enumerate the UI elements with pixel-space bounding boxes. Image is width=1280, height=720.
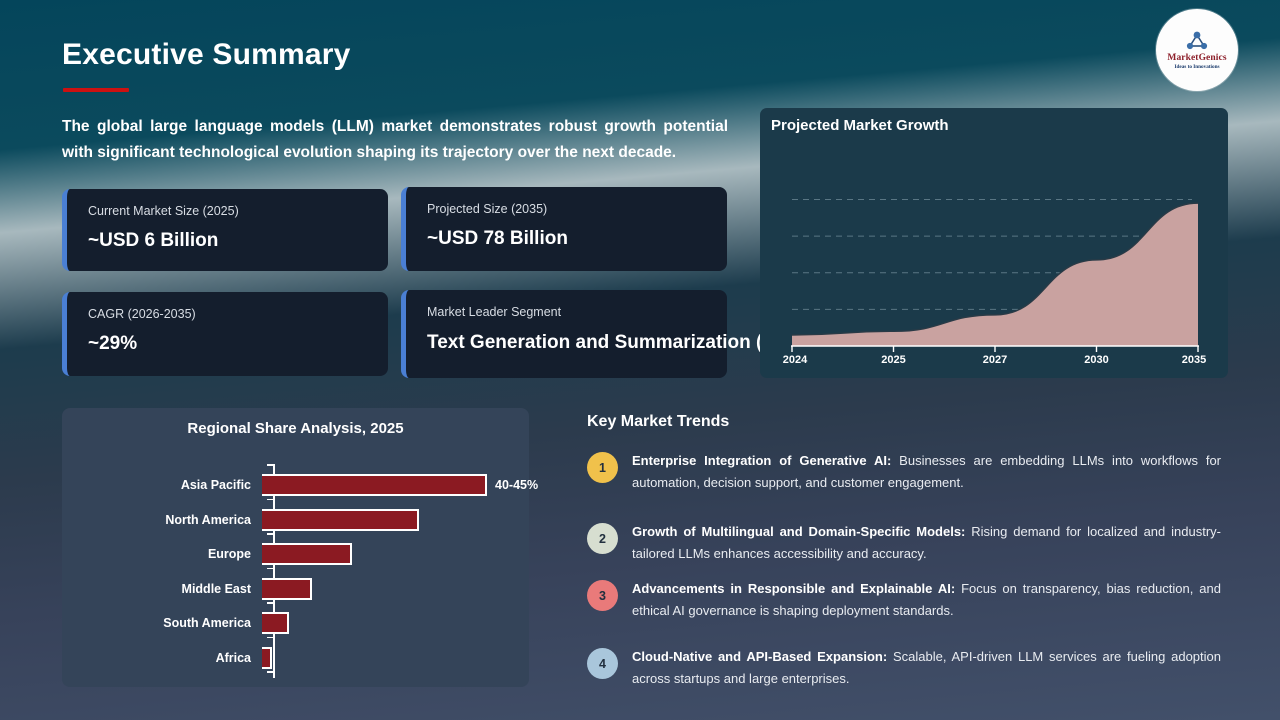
x-tick-2025: 2025 [881, 354, 905, 366]
brand-logo: MarketGenics Ideas to Innovations [1156, 9, 1238, 91]
bar-fill [262, 543, 352, 565]
bar-row: Africa [62, 643, 272, 673]
bars-container: Asia Pacific40-45%North AmericaEuropeMid… [62, 460, 529, 682]
trend-item: 4Cloud-Native and API-Based Expansion: S… [587, 646, 1221, 689]
logo-wordmark: MarketGenics [1167, 53, 1226, 63]
trend-number-badge: 4 [587, 648, 618, 679]
kpi-card-market-leader-segment: Market Leader Segment Text Generation an… [401, 290, 727, 378]
trend-text: Cloud-Native and API-Based Expansion: Sc… [632, 646, 1221, 689]
bar-category-label: South America [62, 616, 262, 630]
trend-text: Advancements in Responsible and Explaina… [632, 578, 1221, 621]
trend-item: 3Advancements in Responsible and Explain… [587, 578, 1221, 621]
regional-share-analysis-chart: Regional Share Analysis, 2025 Asia Pacif… [62, 408, 529, 687]
bar-row: South America [62, 608, 289, 638]
y-axis-tick [267, 671, 274, 673]
bar-category-label: Middle East [62, 582, 262, 596]
kpi-value: ~USD 6 Billion [88, 226, 388, 256]
y-axis-tick [267, 533, 274, 535]
bar-category-label: Africa [62, 651, 262, 665]
y-axis-tick [267, 637, 274, 639]
y-axis-tick [267, 499, 274, 501]
bar-row: Middle East [62, 574, 312, 604]
kpi-card-projected-size: Projected Size (2035) ~USD 78 Billion [401, 187, 727, 271]
trend-item: 2Growth of Multilingual and Domain-Speci… [587, 521, 1221, 564]
intro-paragraph: The global large language models (LLM) m… [62, 114, 728, 166]
bar-fill [262, 612, 289, 634]
network-nodes-icon [1184, 30, 1210, 53]
trend-number-badge: 2 [587, 523, 618, 554]
bar-category-label: Europe [62, 547, 262, 561]
x-tick-2024: 2024 [783, 354, 807, 366]
y-axis-tick [267, 602, 274, 604]
title-underline-accent [63, 88, 129, 92]
trend-heading: Growth of Multilingual and Domain-Specif… [632, 524, 965, 539]
trend-heading: Advancements in Responsible and Explaina… [632, 581, 955, 596]
bar-row: Europe [62, 539, 352, 569]
trend-number-badge: 3 [587, 580, 618, 611]
kpi-label: Current Market Size (2025) [88, 203, 388, 219]
y-axis-tick [267, 568, 274, 570]
trend-heading: Enterprise Integration of Generative AI: [632, 453, 891, 468]
kpi-label: Projected Size (2035) [427, 201, 727, 217]
x-tick-2030: 2030 [1084, 354, 1108, 366]
bar-row: North America [62, 505, 419, 535]
bar-fill [262, 474, 487, 496]
trend-number-badge: 1 [587, 452, 618, 483]
kpi-value: Text Generation and Summarization (30-35… [427, 327, 727, 358]
y-axis-tick [267, 464, 274, 466]
kpi-value: ~USD 78 Billion [427, 224, 727, 254]
trend-text: Enterprise Integration of Generative AI:… [632, 450, 1221, 493]
bar-fill [262, 509, 419, 531]
bar-category-label: Asia Pacific [62, 478, 262, 492]
kpi-value: ~29% [88, 329, 388, 359]
projected-market-growth-chart: Projected Market Growth 2024202520272030… [760, 108, 1228, 378]
kpi-card-cagr: CAGR (2026-2035) ~29% [62, 292, 388, 376]
logo-tagline: Ideas to Innovations [1175, 64, 1220, 70]
bar-category-label: North America [62, 513, 262, 527]
bar-fill [262, 578, 312, 600]
trend-item: 1Enterprise Integration of Generative AI… [587, 450, 1221, 493]
trends-section-title: Key Market Trends [587, 413, 729, 431]
bar-value-label: 40-45% [495, 478, 538, 492]
trend-text: Growth of Multilingual and Domain-Specif… [632, 521, 1221, 564]
trend-heading: Cloud-Native and API-Based Expansion: [632, 649, 887, 664]
chart-title: Regional Share Analysis, 2025 [62, 420, 529, 437]
bar-row: Asia Pacific40-45% [62, 470, 538, 500]
kpi-card-current-market-size: Current Market Size (2025) ~USD 6 Billio… [62, 189, 388, 271]
kpi-label: Market Leader Segment [427, 304, 727, 320]
x-tick-2035: 2035 [1182, 354, 1206, 366]
x-tick-2027: 2027 [983, 354, 1007, 366]
bar-fill [262, 647, 272, 669]
page-title: Executive Summary [62, 38, 351, 72]
kpi-label: CAGR (2026-2035) [88, 306, 388, 322]
